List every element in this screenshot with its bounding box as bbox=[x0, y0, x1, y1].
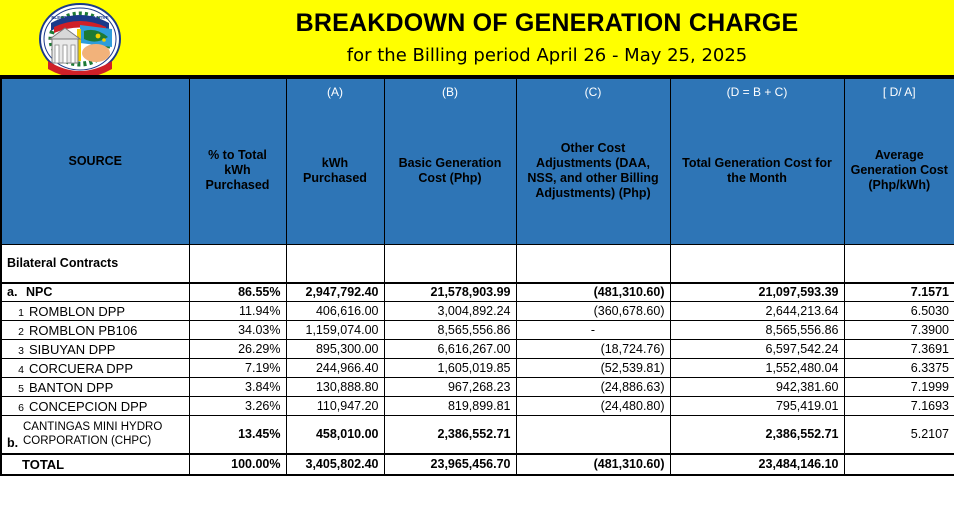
column-tag-c: (C) bbox=[517, 85, 670, 100]
generation-charge-table: SOURCE % to Total kWh Purchased (A) kWh … bbox=[0, 78, 954, 476]
row-letter: b. bbox=[7, 436, 23, 453]
row-other-cost-adjustments: (52,539.81) bbox=[516, 359, 670, 378]
column-header-basic-generation-cost: (B) Basic Generation Cost (Php) bbox=[384, 79, 516, 245]
row-basic-generation-cost: 8,565,556.86 bbox=[384, 321, 516, 340]
column-tag-da: [ D/ A] bbox=[845, 85, 954, 100]
column-label-kwh: kWh Purchased bbox=[292, 138, 379, 186]
column-header-total-generation-cost: (D = B + C) Total Generation Cost for th… bbox=[670, 79, 844, 245]
row-total-generation-cost: 942,381.60 bbox=[670, 378, 844, 397]
row-average-generation-cost: 7.1571 bbox=[844, 283, 954, 302]
row-source-name-line2: CORPORATION (CHPC) bbox=[23, 434, 162, 448]
row-other-cost-adjustments: (481,310.60) bbox=[516, 283, 670, 302]
column-label-average: Average Generation Cost (Php/kWh) bbox=[850, 130, 950, 193]
table-row: 2ROMBLON PB10634.03%1,159,074.008,565,55… bbox=[1, 321, 954, 340]
row-index: 3 bbox=[7, 345, 24, 357]
column-tag-a: (A) bbox=[287, 85, 384, 100]
table-row: 5BANTON DPP3.84%130,888.80967,268.23(24,… bbox=[1, 378, 954, 397]
row-source-name: NPC bbox=[26, 285, 52, 299]
row-kwh-purchased: 130,888.80 bbox=[286, 378, 384, 397]
row-source: 6CONCEPCION DPP bbox=[1, 397, 189, 416]
row-total-generation-cost: 2,644,213.64 bbox=[670, 302, 844, 321]
row-total-generation-cost: 795,419.01 bbox=[670, 397, 844, 416]
row-total-generation-cost: 8,565,556.86 bbox=[670, 321, 844, 340]
row-source: b.CANTINGAS MINI HYDROCORPORATION (CHPC) bbox=[1, 416, 189, 454]
row-average-generation-cost: 7.3691 bbox=[844, 340, 954, 359]
column-header-other-cost-adjustments: (C) Other Cost Adjustments (DAA, NSS, an… bbox=[516, 79, 670, 245]
total-kwh-purchased: 3,405,802.40 bbox=[286, 454, 384, 475]
row-source: 1ROMBLON DPP bbox=[1, 302, 189, 321]
row-source: 2ROMBLON PB106 bbox=[1, 321, 189, 340]
row-source-name: ROMBLON DPP bbox=[29, 304, 125, 319]
row-other-cost-adjustments: (24,886.63) bbox=[516, 378, 670, 397]
column-label-total: Total Generation Cost for the Month bbox=[676, 138, 839, 186]
total-generation-cost: 23,484,146.10 bbox=[670, 454, 844, 475]
row-kwh-purchased: 244,966.40 bbox=[286, 359, 384, 378]
column-label-other: Other Cost Adjustments (DAA, NSS, and ot… bbox=[522, 123, 665, 201]
row-basic-generation-cost: 967,268.23 bbox=[384, 378, 516, 397]
row-source-name: CORCUERA DPP bbox=[29, 361, 133, 376]
row-average-generation-cost: 7.3900 bbox=[844, 321, 954, 340]
table-row: 3SIBUYAN DPP26.29%895,300.006,616,267.00… bbox=[1, 340, 954, 359]
row-basic-generation-cost: 3,004,892.24 bbox=[384, 302, 516, 321]
row-source: 5BANTON DPP bbox=[1, 378, 189, 397]
row-total-generation-cost: 1,552,480.04 bbox=[670, 359, 844, 378]
column-label-source: SOURCE bbox=[7, 154, 184, 169]
row-pct-total-kwh: 86.55% bbox=[189, 283, 286, 302]
row-index: 2 bbox=[7, 326, 24, 338]
row-kwh-purchased: 2,947,792.40 bbox=[286, 283, 384, 302]
row-pct-total-kwh: 3.84% bbox=[189, 378, 286, 397]
generation-charge-breakdown-page: ELECTRIC COOPERATIVE BREAKDOWN OF GENERA… bbox=[0, 0, 954, 506]
row-total-generation-cost: 6,597,542.24 bbox=[670, 340, 844, 359]
column-header-pct-total-kwh: % to Total kWh Purchased bbox=[189, 79, 286, 245]
table-row: 6CONCEPCION DPP3.26%110,947.20819,899.81… bbox=[1, 397, 954, 416]
column-header-source: SOURCE bbox=[1, 79, 189, 245]
row-source: 3SIBUYAN DPP bbox=[1, 340, 189, 359]
total-other-cost-adjustments: (481,310.60) bbox=[516, 454, 670, 475]
row-average-generation-cost: 7.1999 bbox=[844, 378, 954, 397]
row-total-generation-cost: 2,386,552.71 bbox=[670, 416, 844, 454]
row-other-cost-adjustments: (360,678.60) bbox=[516, 302, 670, 321]
row-average-generation-cost: 6.5030 bbox=[844, 302, 954, 321]
table-total-row: TOTAL100.00%3,405,802.4023,965,456.70(48… bbox=[1, 454, 954, 475]
group-heading-blank-1 bbox=[189, 245, 286, 283]
row-source-name: ROMBLON PB106 bbox=[29, 323, 137, 338]
group-heading-blank-4 bbox=[516, 245, 670, 283]
row-pct-total-kwh: 26.29% bbox=[189, 340, 286, 359]
svg-text:ELECTRIC COOPERATIVE: ELECTRIC COOPERATIVE bbox=[51, 15, 108, 20]
banner-title-block: BREAKDOWN OF GENERATION CHARGE for the B… bbox=[140, 0, 954, 75]
total-pct-total-kwh: 100.00% bbox=[189, 454, 286, 475]
column-label-pct: % to Total kWh Purchased bbox=[195, 130, 281, 193]
row-other-cost-adjustments: - bbox=[516, 321, 670, 340]
row-other-cost-adjustments: (24,480.80) bbox=[516, 397, 670, 416]
header-row: SOURCE % to Total kWh Purchased (A) kWh … bbox=[1, 79, 954, 245]
row-source-name: SIBUYAN DPP bbox=[29, 342, 115, 357]
row-kwh-purchased: 458,010.00 bbox=[286, 416, 384, 454]
row-pct-total-kwh: 3.26% bbox=[189, 397, 286, 416]
row-average-generation-cost: 7.1693 bbox=[844, 397, 954, 416]
column-header-kwh-purchased: (A) kWh Purchased bbox=[286, 79, 384, 245]
group-heading-row: Bilateral Contracts bbox=[1, 245, 954, 283]
column-tag-b: (B) bbox=[385, 85, 516, 100]
row-index: 6 bbox=[7, 402, 24, 414]
billing-period-subtitle: for the Billing period April 26 - May 25… bbox=[347, 44, 748, 68]
row-average-generation-cost: 6.3375 bbox=[844, 359, 954, 378]
row-source-name: CONCEPCION DPP bbox=[29, 399, 147, 414]
table-row: 4CORCUERA DPP7.19%244,966.401,605,019.85… bbox=[1, 359, 954, 378]
row-basic-generation-cost: 21,578,903.99 bbox=[384, 283, 516, 302]
group-heading-blank-5 bbox=[670, 245, 844, 283]
row-kwh-purchased: 406,616.00 bbox=[286, 302, 384, 321]
total-basic-generation-cost: 23,965,456.70 bbox=[384, 454, 516, 475]
group-heading-blank-6 bbox=[844, 245, 954, 283]
row-index: 1 bbox=[7, 307, 24, 319]
column-label-basic: Basic Generation Cost (Php) bbox=[390, 138, 511, 186]
page-title: BREAKDOWN OF GENERATION CHARGE bbox=[296, 8, 799, 38]
row-pct-total-kwh: 11.94% bbox=[189, 302, 286, 321]
total-label: TOTAL bbox=[1, 454, 189, 475]
row-source: 4CORCUERA DPP bbox=[1, 359, 189, 378]
row-other-cost-adjustments bbox=[516, 416, 670, 454]
row-basic-generation-cost: 6,616,267.00 bbox=[384, 340, 516, 359]
table-row: a.NPC86.55%2,947,792.4021,578,903.99(481… bbox=[1, 283, 954, 302]
cooperative-logo: ELECTRIC COOPERATIVE bbox=[24, 3, 136, 75]
row-pct-total-kwh: 34.03% bbox=[189, 321, 286, 340]
group-heading-label: Bilateral Contracts bbox=[1, 245, 189, 283]
group-heading-blank-2 bbox=[286, 245, 384, 283]
row-source: a.NPC bbox=[1, 283, 189, 302]
row-pct-total-kwh: 7.19% bbox=[189, 359, 286, 378]
column-header-average-generation-cost: [ D/ A] Average Generation Cost (Php/kWh… bbox=[844, 79, 954, 245]
row-average-generation-cost: 5.2107 bbox=[844, 416, 954, 454]
column-tag-d: (D = B + C) bbox=[671, 85, 844, 100]
row-index: 5 bbox=[7, 383, 24, 395]
row-basic-generation-cost: 1,605,019.85 bbox=[384, 359, 516, 378]
row-other-cost-adjustments: (18,724.76) bbox=[516, 340, 670, 359]
table-row: 1ROMBLON DPP11.94%406,616.003,004,892.24… bbox=[1, 302, 954, 321]
row-kwh-purchased: 110,947.20 bbox=[286, 397, 384, 416]
group-heading-blank-3 bbox=[384, 245, 516, 283]
row-basic-generation-cost: 2,386,552.71 bbox=[384, 416, 516, 454]
row-kwh-purchased: 895,300.00 bbox=[286, 340, 384, 359]
row-source-name-line1: CANTINGAS MINI HYDRO bbox=[23, 420, 162, 434]
row-pct-total-kwh: 13.45% bbox=[189, 416, 286, 454]
row-basic-generation-cost: 819,899.81 bbox=[384, 397, 516, 416]
table-row-chpc: b.CANTINGAS MINI HYDROCORPORATION (CHPC)… bbox=[1, 416, 954, 454]
header-banner: ELECTRIC COOPERATIVE BREAKDOWN OF GENERA… bbox=[0, 0, 954, 78]
row-index: 4 bbox=[7, 364, 24, 376]
table-body: Bilateral Contractsa.NPC86.55%2,947,792.… bbox=[1, 245, 954, 475]
row-kwh-purchased: 1,159,074.00 bbox=[286, 321, 384, 340]
table-header: SOURCE % to Total kWh Purchased (A) kWh … bbox=[1, 79, 954, 245]
row-total-generation-cost: 21,097,593.39 bbox=[670, 283, 844, 302]
total-average-generation-cost bbox=[844, 454, 954, 475]
seal-icon: ELECTRIC COOPERATIVE bbox=[24, 3, 136, 75]
row-source-name: BANTON DPP bbox=[29, 380, 113, 395]
row-letter: a. bbox=[7, 285, 22, 299]
